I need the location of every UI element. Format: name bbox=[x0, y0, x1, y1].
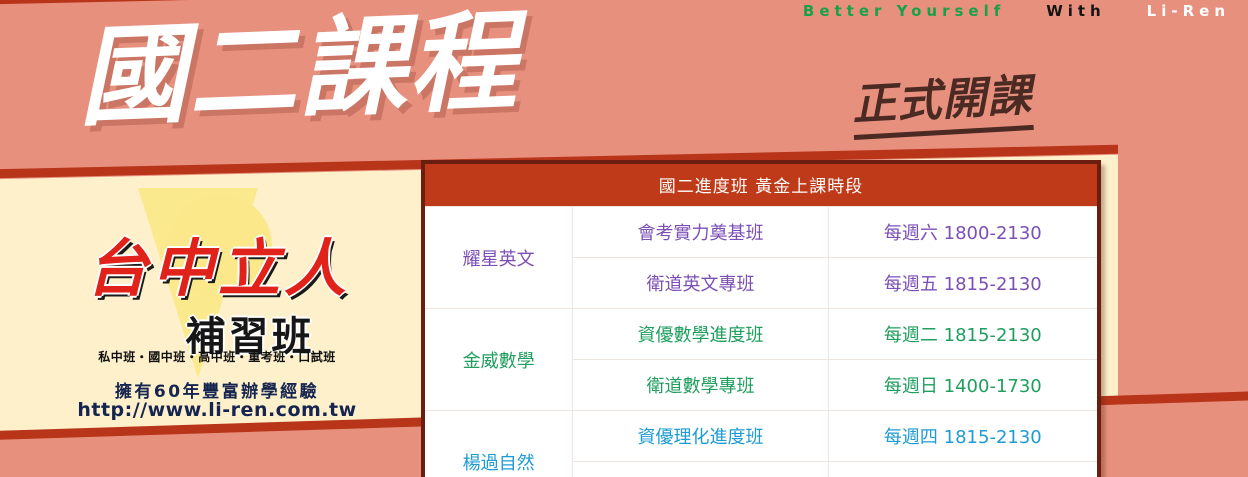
course-cell: 衛道英文專班 bbox=[573, 258, 828, 309]
tagline-part-1: Better Yourself bbox=[803, 2, 1005, 20]
schedule-table-container: 國二進度班 黃金上課時段 耀星英文 會考實力奠基班 每週六 1800-2130 … bbox=[421, 160, 1101, 477]
brand-logo-block: 台中立人 補習班 私中班・國中班・高中班・重考班・口試班 擁有60年豐富辦學經驗… bbox=[20, 196, 400, 426]
time-cell: 每週四 1815-2130 bbox=[828, 411, 1097, 462]
time-cell: 每週五 1815-2130 bbox=[828, 258, 1097, 309]
schedule-title: 國二進度班 黃金上課時段 bbox=[425, 164, 1097, 207]
course-cell: 衛道數學專班 bbox=[573, 360, 828, 411]
schedule-table: 國二進度班 黃金上課時段 耀星英文 會考實力奠基班 每週六 1800-2130 … bbox=[425, 164, 1097, 477]
course-cell: 會考實力奠基班 bbox=[573, 207, 828, 258]
page-title: 國二課程 bbox=[76, 4, 520, 137]
subject-cell: 楊過自然 bbox=[425, 411, 573, 477]
subheadline-text: 正式開課 bbox=[850, 59, 1034, 140]
subject-cell: 金威數學 bbox=[425, 309, 573, 411]
course-cell: 資優數學進度班 bbox=[573, 309, 828, 360]
course-cell: 衛道自然專班 bbox=[573, 462, 828, 477]
time-cell: 每週日 0900-1230 bbox=[828, 462, 1097, 477]
tagline-part-3: Li-Ren bbox=[1147, 2, 1230, 20]
subject-cell: 耀星英文 bbox=[425, 207, 573, 309]
tagline-part-2: With bbox=[1046, 2, 1106, 20]
promo-banner: Better Yourself With Li-Ren 國二課程 正式開課 台中… bbox=[0, 0, 1248, 477]
schedule-body: 耀星英文 會考實力奠基班 每週六 1800-2130 衛道英文專班 每週五 18… bbox=[425, 207, 1097, 477]
table-row: 耀星英文 會考實力奠基班 每週六 1800-2130 bbox=[425, 207, 1097, 258]
brand-tagline: Better Yourself With Li-Ren bbox=[803, 2, 1230, 20]
headline-group: 國二課程 bbox=[76, 4, 520, 137]
subheadline-group: 正式開課 bbox=[850, 59, 1034, 140]
table-row: 楊過自然 資優理化進度班 每週四 1815-2130 bbox=[425, 411, 1097, 462]
time-cell: 每週二 1815-2130 bbox=[828, 309, 1097, 360]
course-cell: 資優理化進度班 bbox=[573, 411, 828, 462]
logo-class-tags: 私中班・國中班・高中班・重考班・口試班 bbox=[52, 348, 382, 365]
logo-main-text: 台中立人 bbox=[48, 218, 388, 308]
time-cell: 每週六 1800-2130 bbox=[828, 207, 1097, 258]
schedule-header-row: 國二進度班 黃金上課時段 bbox=[425, 164, 1097, 207]
website-url[interactable]: http://www.li-ren.com.tw bbox=[42, 399, 392, 421]
time-cell: 每週日 1400-1730 bbox=[828, 360, 1097, 411]
table-row: 金威數學 資優數學進度班 每週二 1815-2130 bbox=[425, 309, 1097, 360]
